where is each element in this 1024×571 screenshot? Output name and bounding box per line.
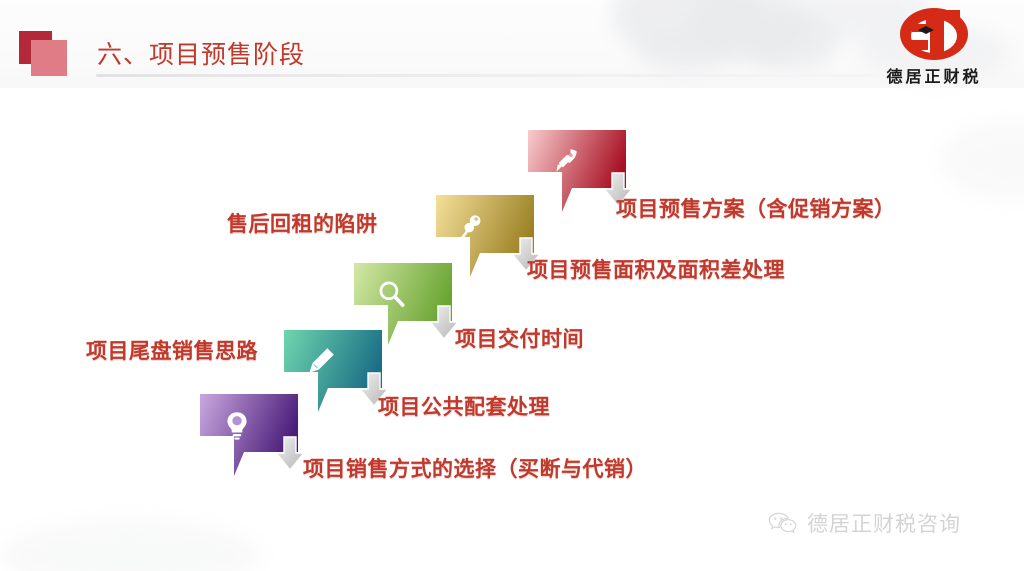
step-label-4: 项目公共配套处理: [378, 391, 550, 421]
step-label-2-secondary: 售后回租的陷阱: [227, 208, 378, 238]
wechat-icon: [768, 511, 798, 535]
step-diagram: 项目预售方案（含促销方案）: [0, 0, 1024, 571]
step-label-4-secondary: 项目尾盘销售思路: [86, 335, 258, 365]
step-label-2: 项目预售面积及面积差处理: [527, 254, 785, 284]
step-label-1: 项目预售方案（含促销方案）: [616, 193, 896, 223]
step-label-5: 项目销售方式的选择（买断与代销）: [303, 453, 647, 483]
step-item-5[interactable]: 项目销售方式的选择（买断与代销）: [198, 392, 310, 480]
down-arrow-icon: [274, 436, 306, 472]
wechat-watermark: 德居正财税咨询: [768, 508, 961, 538]
slide-root: 六、项目预售阶段 德居正财税: [0, 0, 1024, 571]
wechat-watermark-text: 德居正财税咨询: [807, 508, 961, 538]
step-label-3: 项目交付时间: [455, 323, 584, 353]
